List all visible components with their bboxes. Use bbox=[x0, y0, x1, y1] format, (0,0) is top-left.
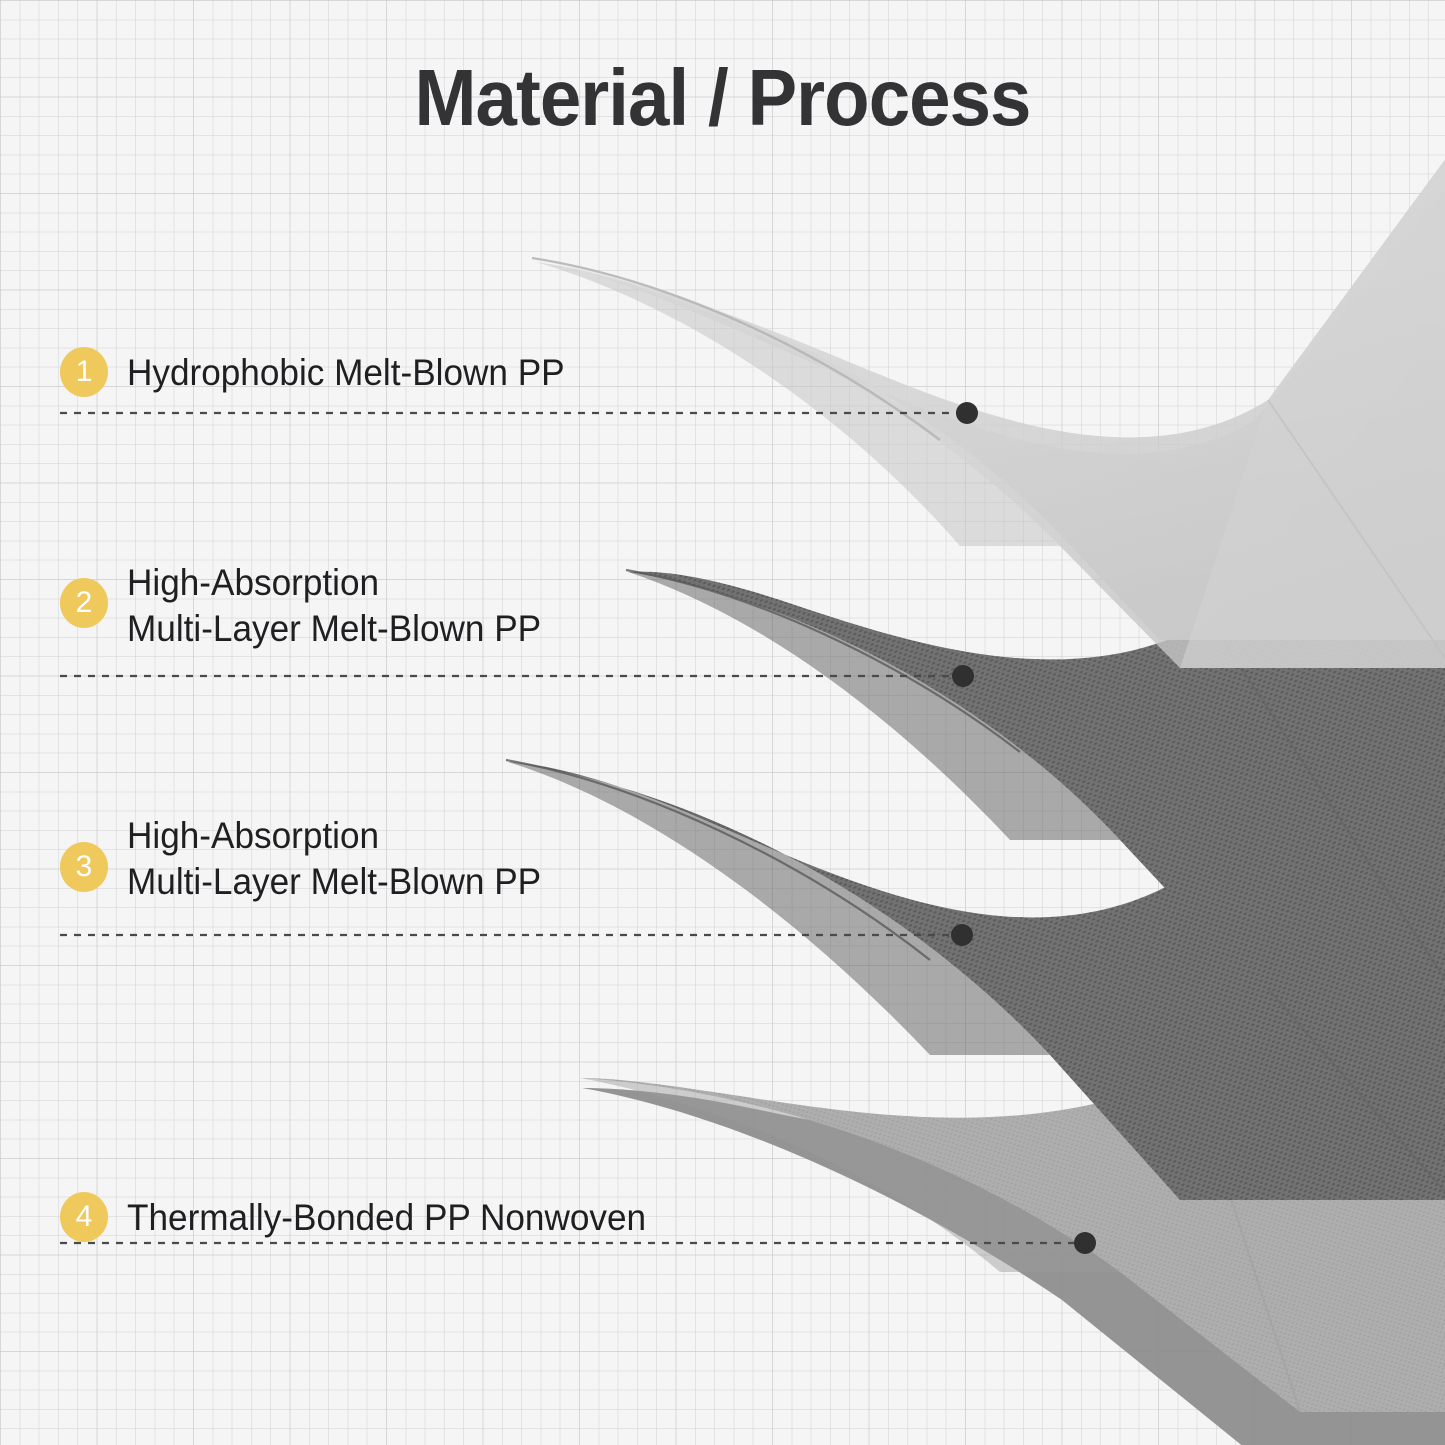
callout-badge-4[interactable]: 4 bbox=[60, 1192, 108, 1242]
leader-dot-1 bbox=[956, 402, 978, 424]
leader-dot-2 bbox=[952, 665, 974, 687]
callout-label-1-line1: Hydrophobic Melt-Blown PP bbox=[127, 352, 565, 393]
leader-line-1 bbox=[60, 402, 978, 424]
callout-label-3: High-Absorption Multi-Layer Melt-Blown P… bbox=[127, 813, 541, 905]
leader-dot-4 bbox=[1074, 1232, 1096, 1254]
callout-label-2-line2: Multi-Layer Melt-Blown PP bbox=[127, 606, 541, 652]
callout-label-1: Hydrophobic Melt-Blown PP bbox=[127, 350, 565, 396]
leader-dot-3 bbox=[951, 924, 973, 946]
callout-badge-3[interactable]: 3 bbox=[60, 842, 108, 892]
leader-line-3 bbox=[60, 924, 973, 946]
page-title: Material / Process bbox=[51, 54, 1395, 142]
callout-label-3-line1: High-Absorption bbox=[127, 815, 379, 856]
callout-label-2-line1: High-Absorption bbox=[127, 562, 379, 603]
leader-line-2 bbox=[60, 665, 974, 687]
callout-label-2: High-Absorption Multi-Layer Melt-Blown P… bbox=[127, 560, 541, 652]
callout-badge-2[interactable]: 2 bbox=[60, 578, 108, 628]
callout-label-3-line2: Multi-Layer Melt-Blown PP bbox=[127, 859, 541, 905]
diagram-canvas: Material / Process 1 Hydrophobic Melt-Bl… bbox=[0, 0, 1445, 1445]
callout-badge-1[interactable]: 1 bbox=[60, 347, 108, 397]
callout-label-4: Thermally-Bonded PP Nonwoven bbox=[127, 1195, 646, 1241]
callout-label-4-line1: Thermally-Bonded PP Nonwoven bbox=[127, 1197, 646, 1238]
